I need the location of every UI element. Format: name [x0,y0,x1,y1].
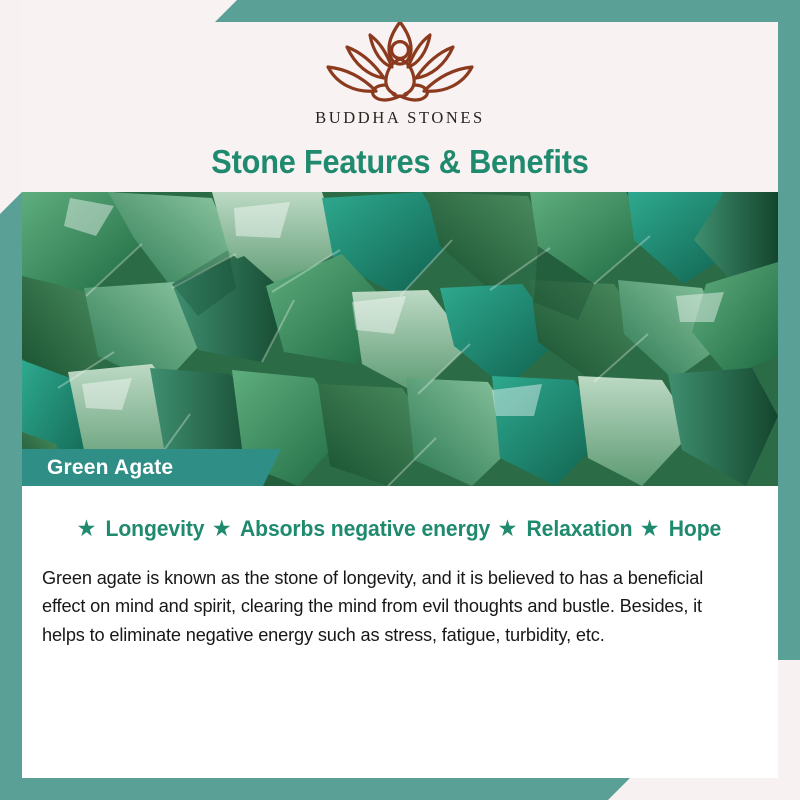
stone-photo [22,192,778,486]
benefits-list: ★ Longevity ★ Absorbs negative energy ★ … [37,486,763,542]
benefit-item: Hope [663,516,721,541]
title-band: Stone Features & Benefits [22,143,778,181]
frame-right-bar [778,0,800,660]
benefit-item: Absorbs negative energy [235,516,496,541]
brand-name: BUDDHA STONES [22,108,778,128]
benefit-item: Longevity [100,516,210,541]
stone-photo-illustration [22,192,778,486]
stone-info-poster: BUDDHA STONES Stone Features & Benefits [0,0,800,800]
star-icon: ★ [499,518,516,540]
star-icon: ★ [78,518,95,540]
page-title: Stone Features & Benefits [48,143,751,181]
frame-top-bar [215,0,800,22]
frame-left-bar [0,192,22,778]
description-text: Green agate is known as the stone of lon… [22,542,778,649]
frame-bottom-bar [0,778,630,800]
star-icon: ★ [213,518,230,540]
brand-logo: BUDDHA STONES [22,14,778,128]
lotus-meditation-icon [307,14,493,106]
stone-name-banner: Green Agate [22,449,281,486]
star-icon: ★ [641,518,658,540]
content-panel: ★ Longevity ★ Absorbs negative energy ★ … [22,486,778,778]
stone-name-label: Green Agate [47,456,173,480]
benefit-item: Relaxation [521,516,638,541]
poster-header: BUDDHA STONES Stone Features & Benefits [22,0,778,192]
